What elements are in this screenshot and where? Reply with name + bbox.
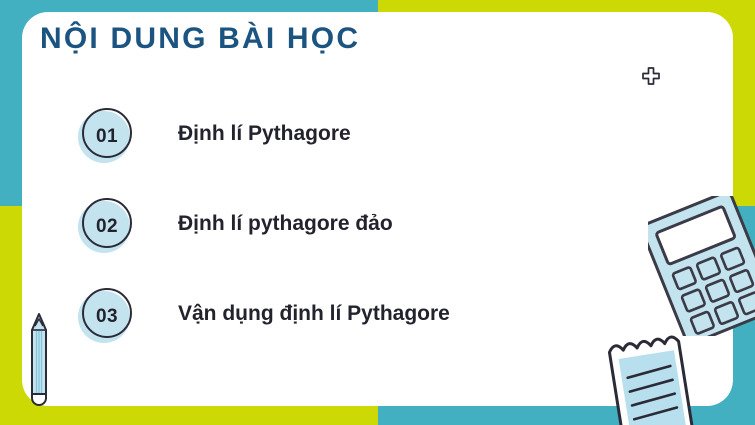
item-number-label: 01 [78,108,136,166]
lesson-contents-list: 01 Định lí Pythagore 02 Định lí pythagor… [78,100,638,370]
pencil-icon [26,310,52,415]
item-number-badge: 02 [78,198,136,256]
page-title: NỘI DUNG BÀI HỌC [40,22,360,56]
receipt-paper-icon [592,326,712,425]
item-number-badge: 01 [78,108,136,166]
slide-canvas: NỘI DUNG BÀI HỌC 01 Định lí Pythagore 02… [0,0,755,425]
list-item[interactable]: 01 Định lí Pythagore [78,100,638,190]
move-crosshair-cursor-icon [641,66,661,86]
item-number-badge: 03 [78,288,136,346]
item-title-label: Định lí pythagore đảo [178,212,393,236]
item-title-label: Định lí Pythagore [178,122,351,146]
item-number-label: 02 [78,198,136,256]
calculator-icon [648,196,755,341]
list-item[interactable]: 02 Định lí pythagore đảo [78,190,638,280]
list-item[interactable]: 03 Vận dụng định lí Pythagore [78,280,638,370]
item-number-label: 03 [78,288,136,346]
item-title-label: Vận dụng định lí Pythagore [178,302,450,326]
